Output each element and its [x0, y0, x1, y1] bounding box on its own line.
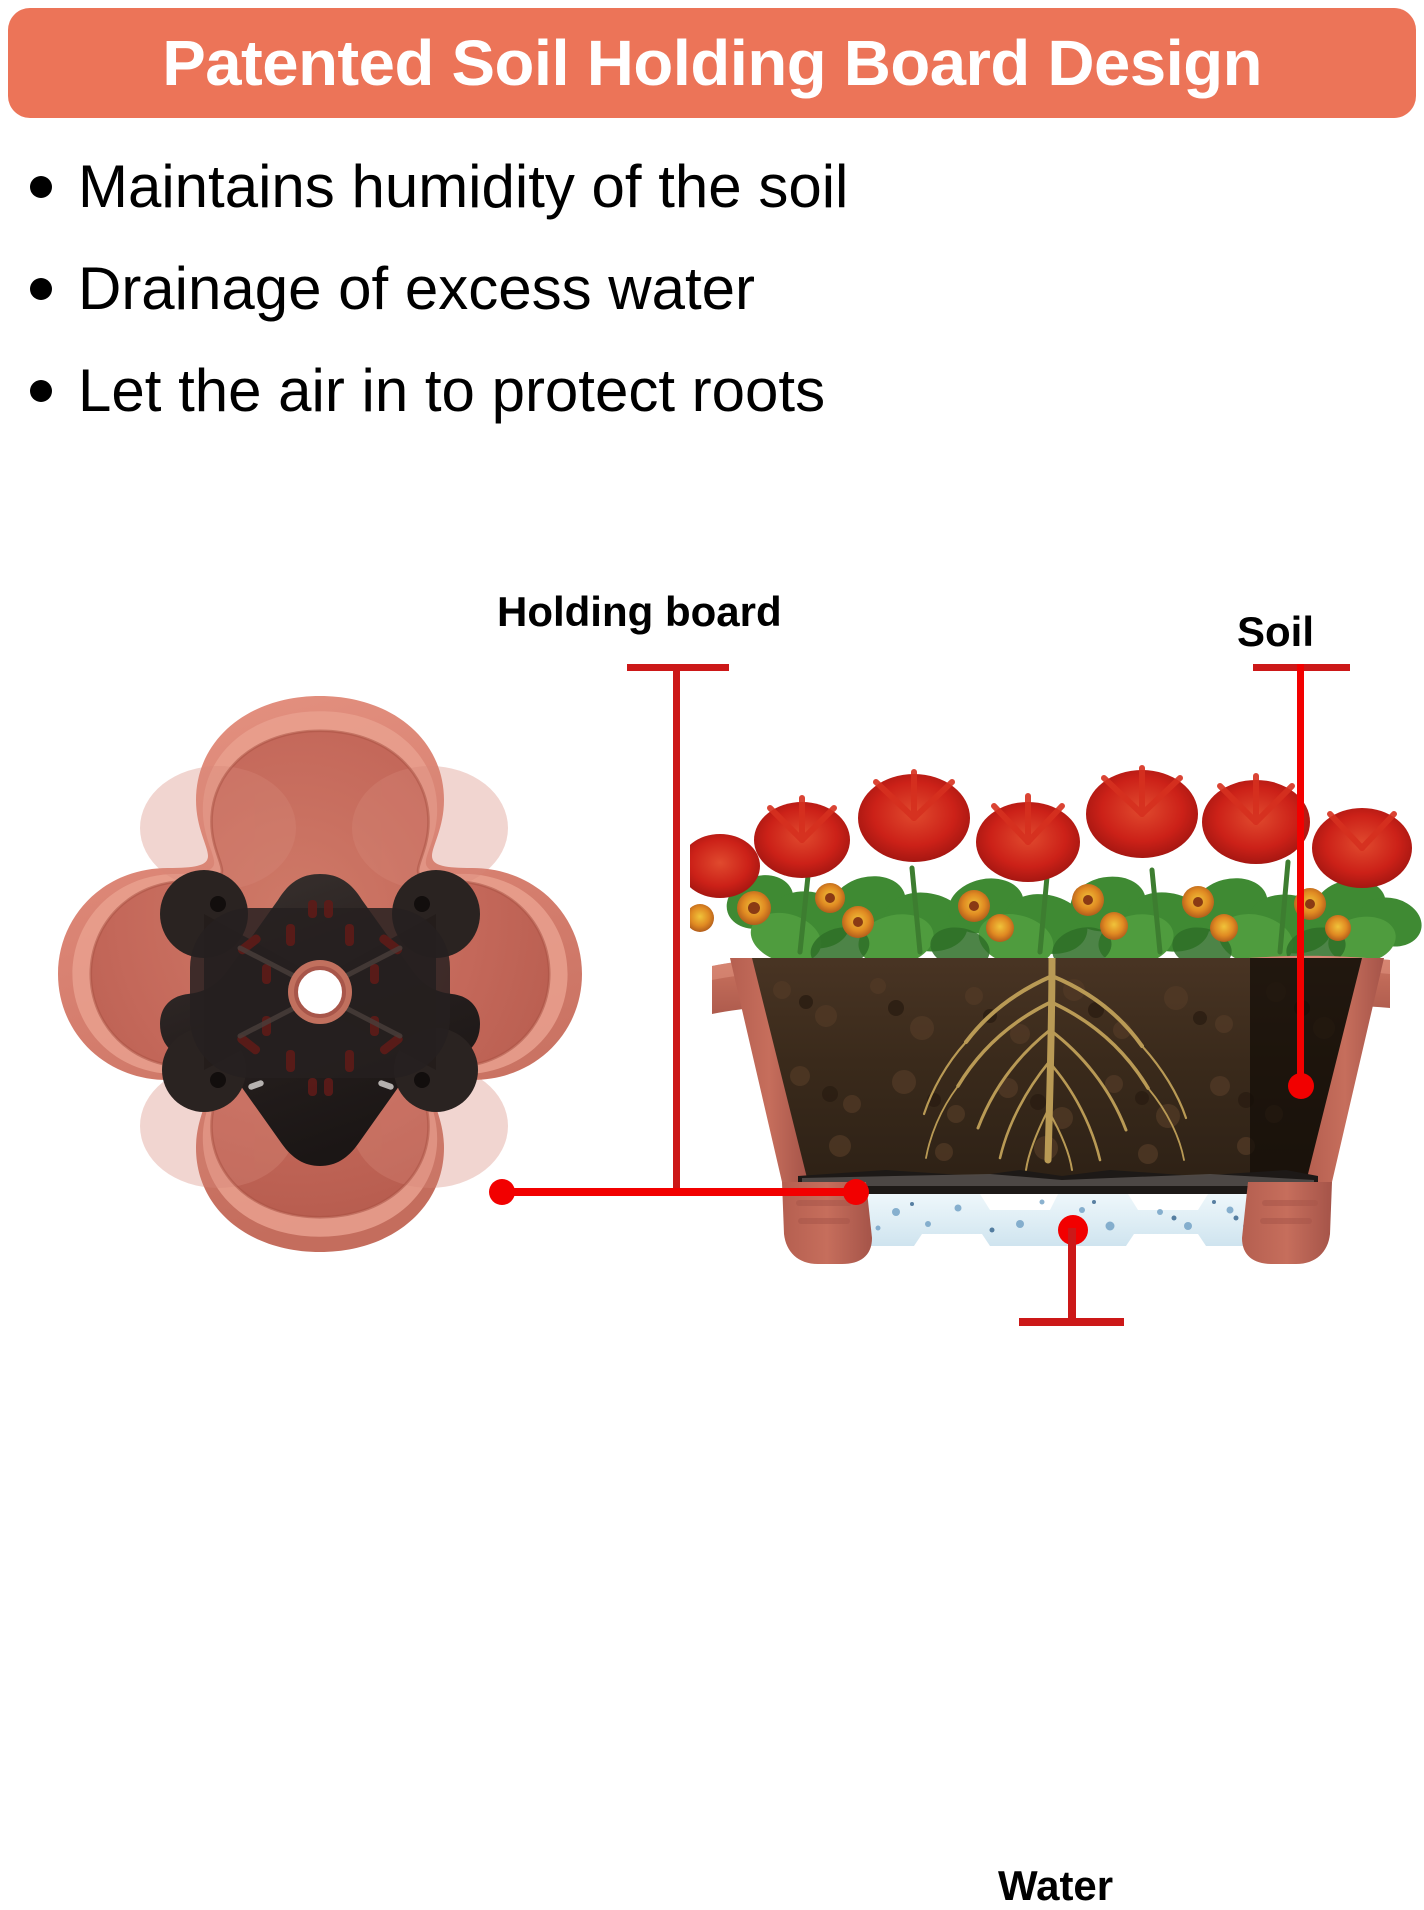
water-leader-bar [1019, 1318, 1124, 1326]
feature-label: Drainage of excess water [78, 254, 755, 324]
soil-leader-stem [1297, 664, 1304, 1089]
callout-label-holding-board: Holding board [497, 588, 782, 636]
bullet-icon [30, 380, 52, 402]
soil-marker [1288, 1073, 1314, 1099]
header-banner: Patented Soil Holding Board Design [8, 8, 1416, 118]
clover-planter-top-view-image [40, 678, 600, 1268]
soil [730, 950, 1390, 1200]
feature-list: Maintains humidity of the soil Drainage … [30, 152, 1130, 458]
product-diagram: Holding board Soil Water [0, 560, 1424, 1368]
callout-label-water: Water [998, 1862, 1113, 1910]
list-item: Maintains humidity of the soil [30, 152, 1130, 222]
bullet-icon [30, 278, 52, 300]
feature-label: Let the air in to protect roots [78, 356, 825, 426]
holding-board-marker-left [489, 1179, 515, 1205]
bullet-icon [30, 176, 52, 198]
list-item: Let the air in to protect roots [30, 356, 1130, 426]
holding-board-connector-line [500, 1188, 867, 1196]
feature-label: Maintains humidity of the soil [78, 152, 848, 222]
callout-label-soil: Soil [1237, 608, 1314, 656]
list-item: Drainage of excess water [30, 254, 1130, 324]
holding-board-leader-stem [673, 664, 680, 1191]
page-title: Patented Soil Holding Board Design [162, 31, 1262, 95]
holding-board-marker-right [843, 1179, 869, 1205]
water-leader-stem [1068, 1228, 1076, 1325]
